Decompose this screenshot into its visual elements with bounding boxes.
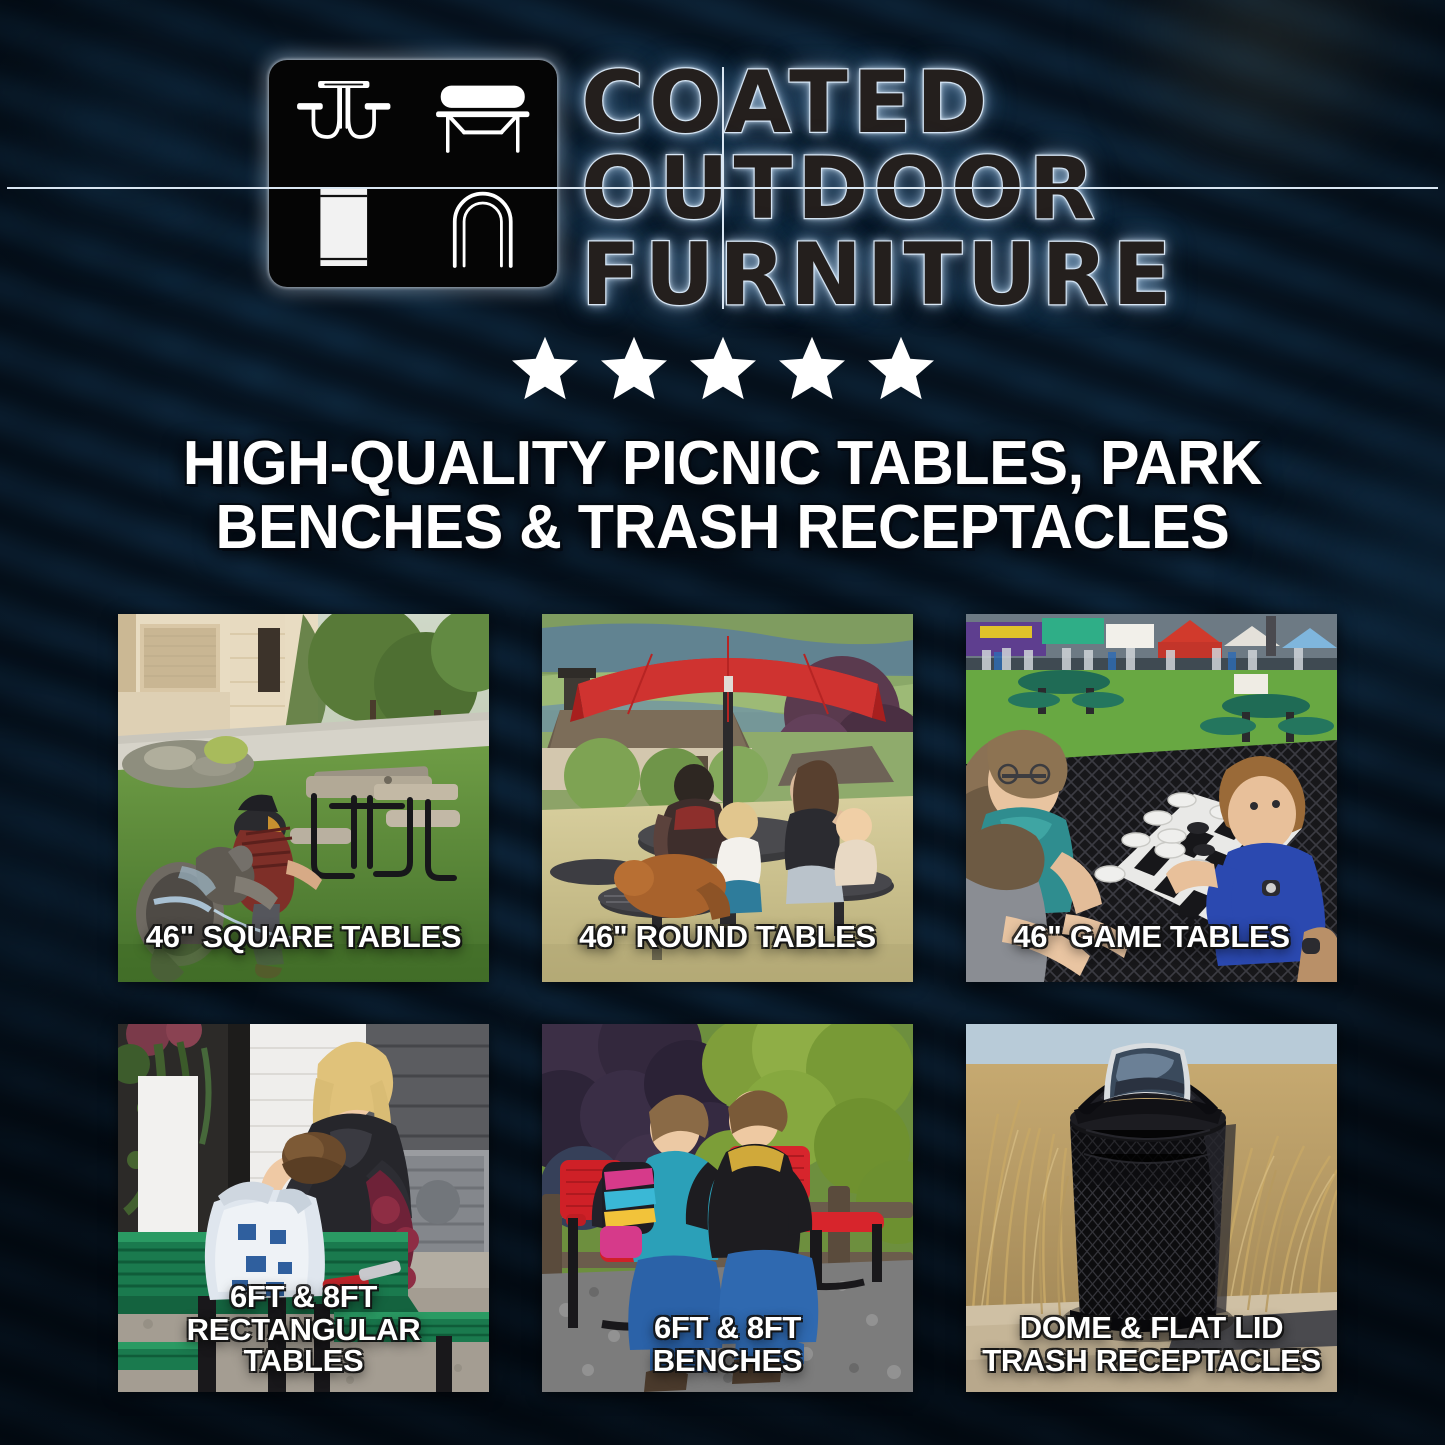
product-caption: 6FT & 8FT RECTANGULAR TABLES (124, 1281, 483, 1376)
product-grid: 46" SQUARE TABLES (118, 614, 1337, 1392)
caption-line: 46" ROUND TABLES (548, 921, 907, 952)
brand-lockup: COATED OUTDOOR FURNITURE (0, 60, 1445, 316)
product-tile-round-tables[interactable]: 46" ROUND TABLES (542, 614, 913, 982)
product-caption: 6FT & 8FT BENCHES (548, 1312, 907, 1376)
product-caption: 46" ROUND TABLES (548, 921, 907, 952)
caption-line: 46" SQUARE TABLES (124, 921, 483, 952)
poster-canvas: COATED OUTDOOR FURNITURE HIGH-QUALITY PI… (0, 0, 1445, 1445)
caption-line: RECTANGULAR TABLES (124, 1314, 483, 1376)
logo-divider-horizontal (7, 187, 1438, 189)
caption-line: 6FT & 8FT (124, 1281, 483, 1312)
caption-line: BENCHES (548, 1345, 907, 1376)
product-caption: 46" SQUARE TABLES (124, 921, 483, 952)
park-bench-icon (415, 67, 551, 172)
page-title: HIGH-QUALITY PICNIC TABLES, PARK BENCHES… (99, 432, 1345, 560)
caption-line: 6FT & 8FT (548, 1312, 907, 1343)
caption-line: TRASH RECEPTACLES (972, 1345, 1331, 1376)
star-icon (687, 332, 759, 404)
brand-name-line-1: COATED (581, 64, 1176, 144)
brand-name-line-3: FURNITURE (581, 236, 1176, 316)
star-icon (598, 332, 670, 404)
trash-receptacle-icon (276, 175, 412, 280)
caption-line: DOME & FLAT LID (972, 1312, 1331, 1343)
brand-name-line-2: OUTDOOR (581, 150, 1176, 230)
star-icon (509, 332, 581, 404)
brand-logo-mark (269, 60, 557, 287)
product-tile-rectangular-tables[interactable]: 6FT & 8FT RECTANGULAR TABLES (118, 1024, 489, 1392)
headline-line-1: HIGH-QUALITY PICNIC TABLES, PARK (99, 432, 1345, 496)
product-caption: 46" GAME TABLES (972, 921, 1331, 952)
product-tile-benches[interactable]: 6FT & 8FT BENCHES (542, 1024, 913, 1392)
star-icon (776, 332, 848, 404)
product-caption: DOME & FLAT LID TRASH RECEPTACLES (972, 1312, 1331, 1376)
product-tile-game-tables[interactable]: 46" GAME TABLES (966, 614, 1337, 982)
picnic-table-icon (276, 67, 412, 172)
star-icon (865, 332, 937, 404)
bike-rack-icon (415, 175, 551, 280)
product-tile-trash-receptacles[interactable]: DOME & FLAT LID TRASH RECEPTACLES (966, 1024, 1337, 1392)
caption-line: 46" GAME TABLES (972, 921, 1331, 952)
product-tile-square-tables[interactable]: 46" SQUARE TABLES (118, 614, 489, 982)
headline-line-2: BENCHES & TRASH RECEPTACLES (99, 496, 1345, 560)
star-rating (0, 332, 1445, 404)
